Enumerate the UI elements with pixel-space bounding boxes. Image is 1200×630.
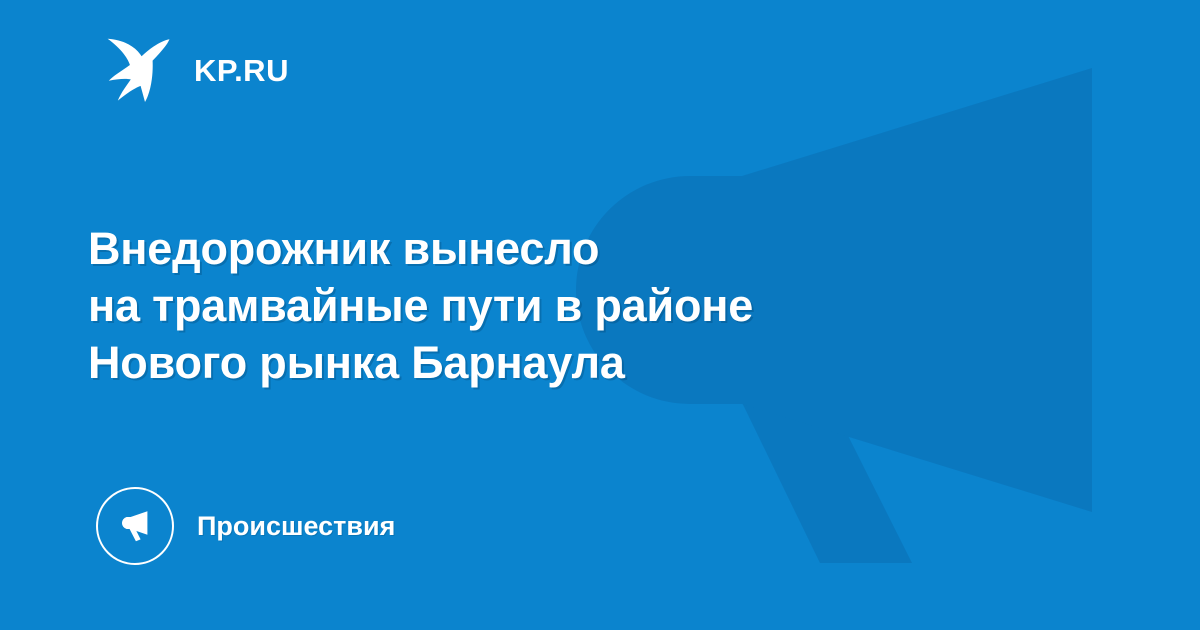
- category-badge[interactable]: Происшествия: [96, 487, 395, 565]
- megaphone-icon: [115, 506, 155, 546]
- megaphone-icon-circle: [96, 487, 174, 565]
- brand-wordmark: KP.RU: [194, 55, 289, 86]
- headline-line-3: Нового рынка Барнаула: [88, 334, 988, 391]
- headline-line-1: Внедорожник вынесло: [88, 220, 988, 277]
- brand-logo[interactable]: KP.RU: [104, 34, 289, 106]
- social-share-card: KP.RU Внедорожник вынесло на трамвайные …: [0, 0, 1200, 630]
- category-label: Происшествия: [197, 513, 395, 540]
- headline-line-2: на трамвайные пути в районе: [88, 277, 988, 334]
- headline: Внедорожник вынесло на трамвайные пути в…: [88, 220, 988, 391]
- swallow-bird-icon: [104, 34, 176, 106]
